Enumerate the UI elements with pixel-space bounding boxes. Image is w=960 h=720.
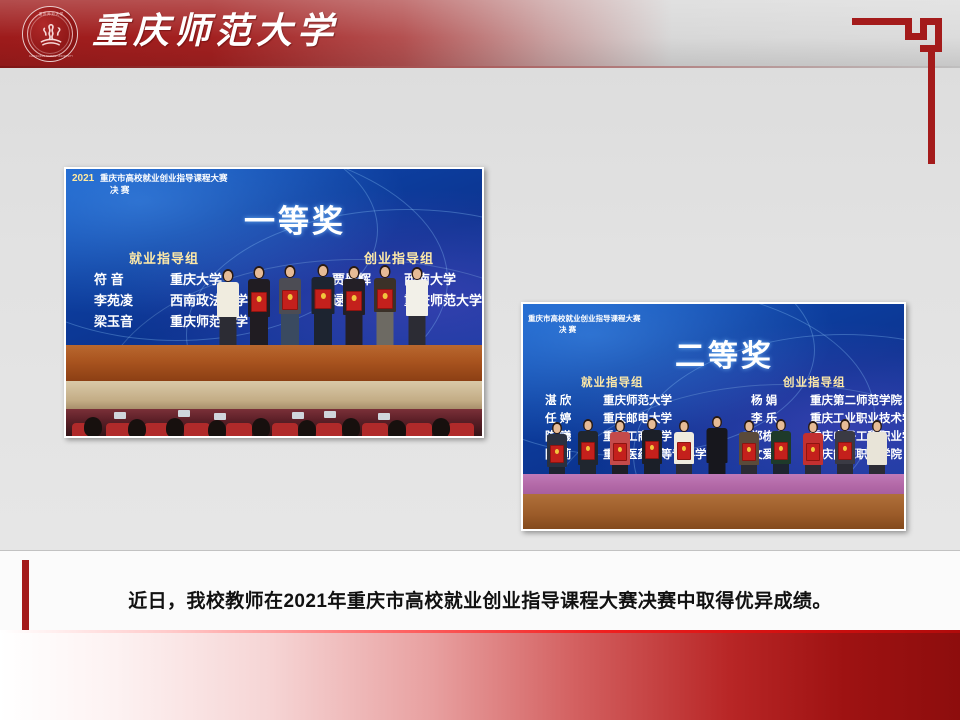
stage-front-panel [523, 494, 904, 531]
person-legs [346, 315, 363, 345]
person-face [255, 268, 263, 278]
certificate-held [742, 443, 756, 461]
led-corner-stage: 决 赛 [559, 324, 576, 335]
led-corner-stage: 决 赛 [110, 184, 129, 196]
audience-head [166, 418, 184, 438]
award-photo-second-prize[interactable]: 重庆市高校就业创业指导课程大赛 决 赛 二等奖 就业指导组 创业指导组 湛 欣 … [521, 302, 906, 531]
person-on-stage [309, 264, 337, 345]
audience-seat [362, 423, 388, 438]
audience-head [84, 417, 102, 437]
person-face [585, 421, 592, 430]
person-legs [250, 317, 268, 345]
person-face [746, 422, 753, 431]
person-face [350, 268, 358, 278]
led-winner-school: 重庆师范大学 [603, 392, 672, 408]
audience-phone [324, 411, 336, 418]
audience-seat [316, 423, 342, 438]
photo-second-prize-content: 重庆市高校就业创业指导课程大赛 决 赛 二等奖 就业指导组 创业指导组 湛 欣 … [523, 304, 904, 529]
certificate-held [613, 443, 627, 461]
certificate-held [806, 443, 820, 461]
person-face [413, 269, 421, 279]
photo-first-prize-content: 2021 重庆市高校就业创业指导课程大赛 决 赛 一等奖 就业指导组 创业指导组… [66, 169, 482, 436]
led-award-title-first: 一等奖 [244, 196, 346, 241]
university-emblem-icon: 重 庆 师 范 大 学 CHONGQING NORMAL UNIVERSITY [22, 6, 78, 62]
certificate-held [251, 292, 267, 312]
audience-area [66, 409, 482, 438]
led-award-title-second: 二等奖 [675, 331, 774, 375]
led-corner-title: 重庆市高校就业创业指导课程大赛 [528, 313, 641, 324]
person-face [554, 424, 561, 433]
audience-seat [406, 423, 432, 438]
award-photo-first-prize[interactable]: 2021 重庆市高校就业创业指导课程大赛 决 赛 一等奖 就业指导组 创业指导组… [64, 167, 484, 438]
person-torso [406, 280, 428, 316]
audience-phone [214, 413, 226, 420]
certificate-held [774, 442, 788, 460]
certificate-held [550, 445, 564, 463]
person-face [681, 422, 688, 431]
audience-phone [114, 412, 126, 419]
person-face [224, 271, 232, 281]
person-torso [707, 428, 728, 463]
person-on-stage [341, 266, 367, 345]
certificate-held [581, 442, 595, 460]
audience-seat [184, 423, 210, 438]
audience-seat [226, 423, 252, 438]
certificate-held [346, 291, 362, 311]
person-face [381, 267, 389, 277]
led-winner-name: 杨 娟 [751, 392, 777, 408]
audience-head [388, 420, 406, 438]
person-legs [281, 314, 299, 345]
person-on-stage [277, 265, 303, 345]
person-face [874, 422, 881, 431]
presentation-slide: 重 庆 师 范 大 学 CHONGQING NORMAL UNIVERSITY … [0, 0, 960, 720]
person-torso [217, 282, 239, 317]
audience-head [432, 418, 450, 438]
audience-head [342, 418, 360, 438]
person-on-stage [404, 267, 430, 345]
university-name-title: 重庆师范大学 [92, 7, 338, 55]
led-corner-title: 重庆市高校就业创业指导课程大赛 [100, 173, 228, 183]
person-face [286, 267, 294, 277]
led-winner-name: 李苑凌 [94, 290, 133, 309]
audience-seat [448, 423, 474, 438]
person-legs [314, 314, 332, 345]
svg-text:重 庆 师 范 大 学: 重 庆 师 范 大 学 [39, 11, 64, 16]
person-on-stage [215, 269, 241, 345]
person-on-stage [246, 266, 272, 345]
led-winner-name: 湛 欣 [545, 392, 571, 408]
svg-text:CHONGQING NORMAL UNIVERSITY: CHONGQING NORMAL UNIVERSITY [29, 54, 74, 58]
audience-phone [378, 413, 390, 420]
certificate-held [645, 441, 659, 459]
header-underline [0, 66, 960, 68]
person-legs [409, 316, 426, 345]
person-face [319, 266, 327, 276]
person-torso [867, 432, 887, 465]
person-legs [377, 312, 394, 345]
person-face [617, 422, 624, 431]
certificate-held [282, 290, 298, 310]
certificate-held [315, 289, 332, 309]
certificate-held [838, 442, 852, 460]
slide-caption-text: 近日，我校教师在2021年重庆市高校就业创业指导课程大赛决赛中取得优异成绩。 [0, 586, 960, 613]
bottom-band-highlight-line [0, 630, 960, 633]
person-face [842, 421, 849, 430]
certificate-held [677, 442, 691, 460]
led-winner-school: 重庆第二师范学院 [810, 392, 902, 408]
led-group-label-employment: 就业指导组 [129, 248, 199, 267]
certificate-held [377, 289, 393, 309]
audience-head [208, 420, 226, 438]
led-corner-header: 2021 重庆市高校就业创业指导课程大赛 [72, 172, 228, 184]
person-face [810, 423, 817, 432]
person-face [649, 420, 656, 429]
person-face [778, 421, 785, 430]
audience-head [128, 419, 146, 438]
audience-phone [178, 410, 190, 417]
led-group-label-employment: 就业指导组 [581, 374, 644, 390]
audience-head [298, 420, 316, 438]
led-winner-name: 梁玉音 [94, 311, 133, 330]
audience-phone [292, 412, 304, 419]
person-legs [220, 317, 237, 345]
audience-head [252, 418, 270, 438]
audience-seat [272, 423, 298, 438]
emblem-glyph-icon: 重 庆 师 范 大 学 CHONGQING NORMAL UNIVERSITY [23, 7, 79, 63]
stage-floor [66, 345, 482, 381]
chinese-corner-ornament-top-right [852, 8, 942, 173]
led-corner-year: 2021 [72, 173, 94, 184]
person-on-stage [372, 265, 398, 345]
bottom-gradient-band [0, 630, 960, 720]
stage-front-panel [66, 381, 482, 409]
led-group-label-entrepreneurship: 创业指导组 [783, 374, 846, 390]
person-face [714, 418, 721, 427]
led-winner-name: 符 音 [94, 269, 124, 288]
